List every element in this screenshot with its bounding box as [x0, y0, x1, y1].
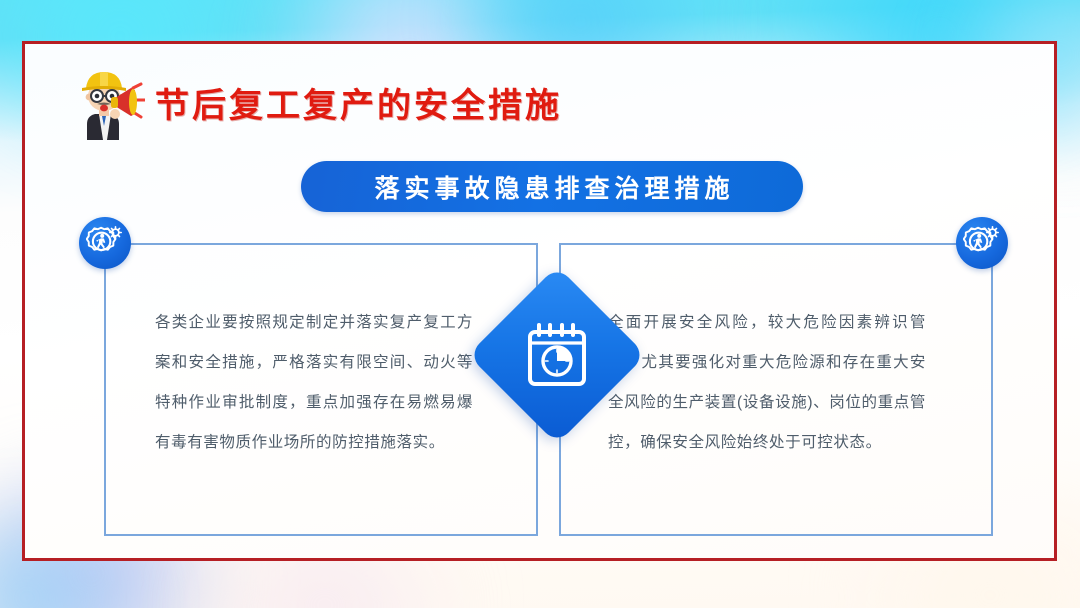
- content-panel-left: 各类企业要按照规定制定并落实复产复工方案和安全措施，严格落实有限空间、动火等特种…: [104, 243, 538, 536]
- slide-root: 节后复工复产的安全措施 落实事故隐患排查治理措施 各类企业要按照规定制定并落实复…: [0, 0, 1080, 608]
- header: 节后复工复产的安全措施: [71, 64, 562, 140]
- page-title: 节后复工复产的安全措施: [155, 78, 562, 127]
- calendar-clock-icon: [520, 318, 594, 392]
- gear-worker-icon-left: [79, 217, 131, 269]
- content-panel-right-text: 全面开展安全风险，较大危险因素辨识管控，尤其要强化对重大危险源和存在重大安全风险…: [608, 303, 926, 463]
- section-banner: 落实事故隐患排查治理措施: [301, 161, 803, 212]
- section-banner-label: 落实事故隐患排查治理措施: [369, 169, 734, 205]
- content-panel-left-text: 各类企业要按照规定制定并落实复产复工方案和安全措施，严格落实有限空间、动火等特种…: [155, 303, 473, 463]
- gear-worker-icon-right: [956, 217, 1008, 269]
- worker-with-megaphone-icon: [71, 64, 145, 140]
- content-panel-right: 全面开展安全风险，较大危险因素辨识管控，尤其要强化对重大危险源和存在重大安全风险…: [559, 243, 993, 536]
